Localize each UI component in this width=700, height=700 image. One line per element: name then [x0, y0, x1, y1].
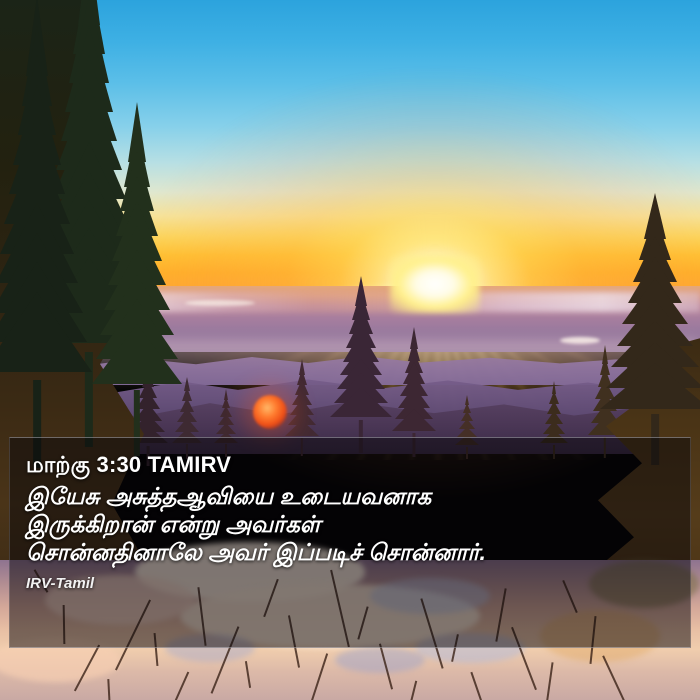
tree-branch-tier — [0, 292, 92, 372]
tree-branch-tier — [285, 420, 319, 436]
verse-reference: மாற்கு 3:30 TAMIRV — [26, 450, 676, 480]
verse-image-card: மாற்கு 3:30 TAMIRV இயேசு அசுத்தஆவியை உடை… — [0, 0, 700, 700]
tree-branch-tier — [392, 409, 436, 431]
verse-body: இயேசு அசுத்தஆவியை உடையவனாக இருக்கிறான் எ… — [26, 482, 676, 566]
tree-branch-tier — [92, 324, 182, 384]
conifer-tree — [0, 60, 92, 460]
verse-version-label: IRV-Tamil — [26, 575, 676, 592]
lens-flare-icon — [253, 395, 287, 429]
verse-line: இயேசு அசுத்தஆவியை உடையவனாக — [26, 482, 676, 510]
verse-overlay-panel: மாற்கு 3:30 TAMIRV இயேசு அசுத்தஆவியை உடை… — [9, 437, 691, 648]
sun-disc — [390, 255, 480, 313]
verse-line: சொன்னதினாலே அவர் இப்படிச் சொன்னார். — [26, 538, 676, 566]
lake-glint — [185, 300, 255, 306]
verse-line: இருக்கிறான் என்று அவர்கள் — [26, 510, 676, 538]
conifer-tree — [330, 300, 392, 450]
tree-branch-tier — [600, 363, 700, 409]
conifer-tree — [600, 230, 700, 460]
tree-branch-tier — [330, 387, 392, 417]
conifer-tree — [92, 150, 182, 450]
